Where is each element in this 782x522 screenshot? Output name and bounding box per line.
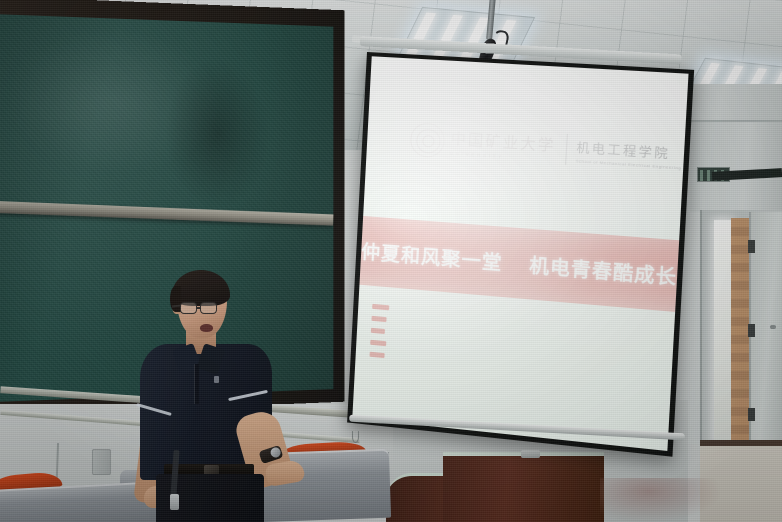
vent-slat — [700, 170, 703, 181]
decoration-dash — [371, 328, 385, 334]
slide-header: 中国矿业大学 UNIVERSITY 机电工程学院 School of Mecha… — [363, 56, 688, 240]
slide-title-line-2: 机电青春酷成长 — [529, 250, 678, 290]
university-name-block: 中国矿业大学 UNIVERSITY — [450, 127, 556, 162]
slide-title-line-1: 仲夏和风聚一堂 — [361, 237, 504, 276]
decoration-dash — [371, 316, 386, 322]
projection-screen[interactable]: 中国矿业大学 UNIVERSITY 机电工程学院 School of Mecha… — [347, 52, 694, 457]
decoration-dash — [369, 352, 384, 358]
chalkboard-shadow — [163, 53, 271, 213]
projector-screen-hook[interactable] — [352, 431, 359, 443]
slide-decoration-dashes — [369, 304, 389, 358]
polo-placket — [194, 364, 199, 404]
lectern-clip — [521, 450, 540, 458]
id-badge — [170, 494, 179, 510]
classroom-door[interactable] — [749, 212, 782, 448]
door-hinge — [748, 408, 755, 421]
glasses-lens-left — [180, 302, 197, 314]
university-seal-icon — [409, 122, 445, 158]
door-hinge — [748, 324, 755, 337]
classroom-photo: 中国矿业大学 UNIVERSITY 机电工程学院 School of Mecha… — [0, 0, 782, 522]
projection-screen-border: 中国矿业大学 UNIVERSITY 机电工程学院 School of Mecha… — [347, 52, 694, 457]
wooden-lectern — [443, 452, 604, 522]
lectern-side-panel — [386, 473, 448, 522]
wall-outlet-plate — [92, 449, 111, 475]
presenter-mouth — [200, 324, 213, 332]
door-hinge — [748, 240, 755, 253]
lectern-shadow — [600, 478, 720, 522]
door-handle[interactable] — [770, 325, 776, 329]
vent-slat — [707, 170, 710, 181]
glasses-bridge — [197, 307, 201, 309]
decoration-dash — [370, 340, 386, 346]
decoration-dash — [372, 304, 389, 311]
shirt-logo — [214, 376, 219, 383]
corridor-daylight — [714, 220, 731, 442]
glasses-lens-right — [200, 302, 217, 314]
wall-upper-panel — [690, 120, 782, 212]
college-name-block: 机电工程学院 School of Mechanical Electrical E… — [576, 136, 683, 170]
presenter — [120, 272, 350, 522]
header-divider — [565, 134, 568, 165]
light-tube — [432, 15, 463, 60]
presentation-slide: 中国矿业大学 UNIVERSITY 机电工程学院 School of Mecha… — [352, 56, 688, 451]
